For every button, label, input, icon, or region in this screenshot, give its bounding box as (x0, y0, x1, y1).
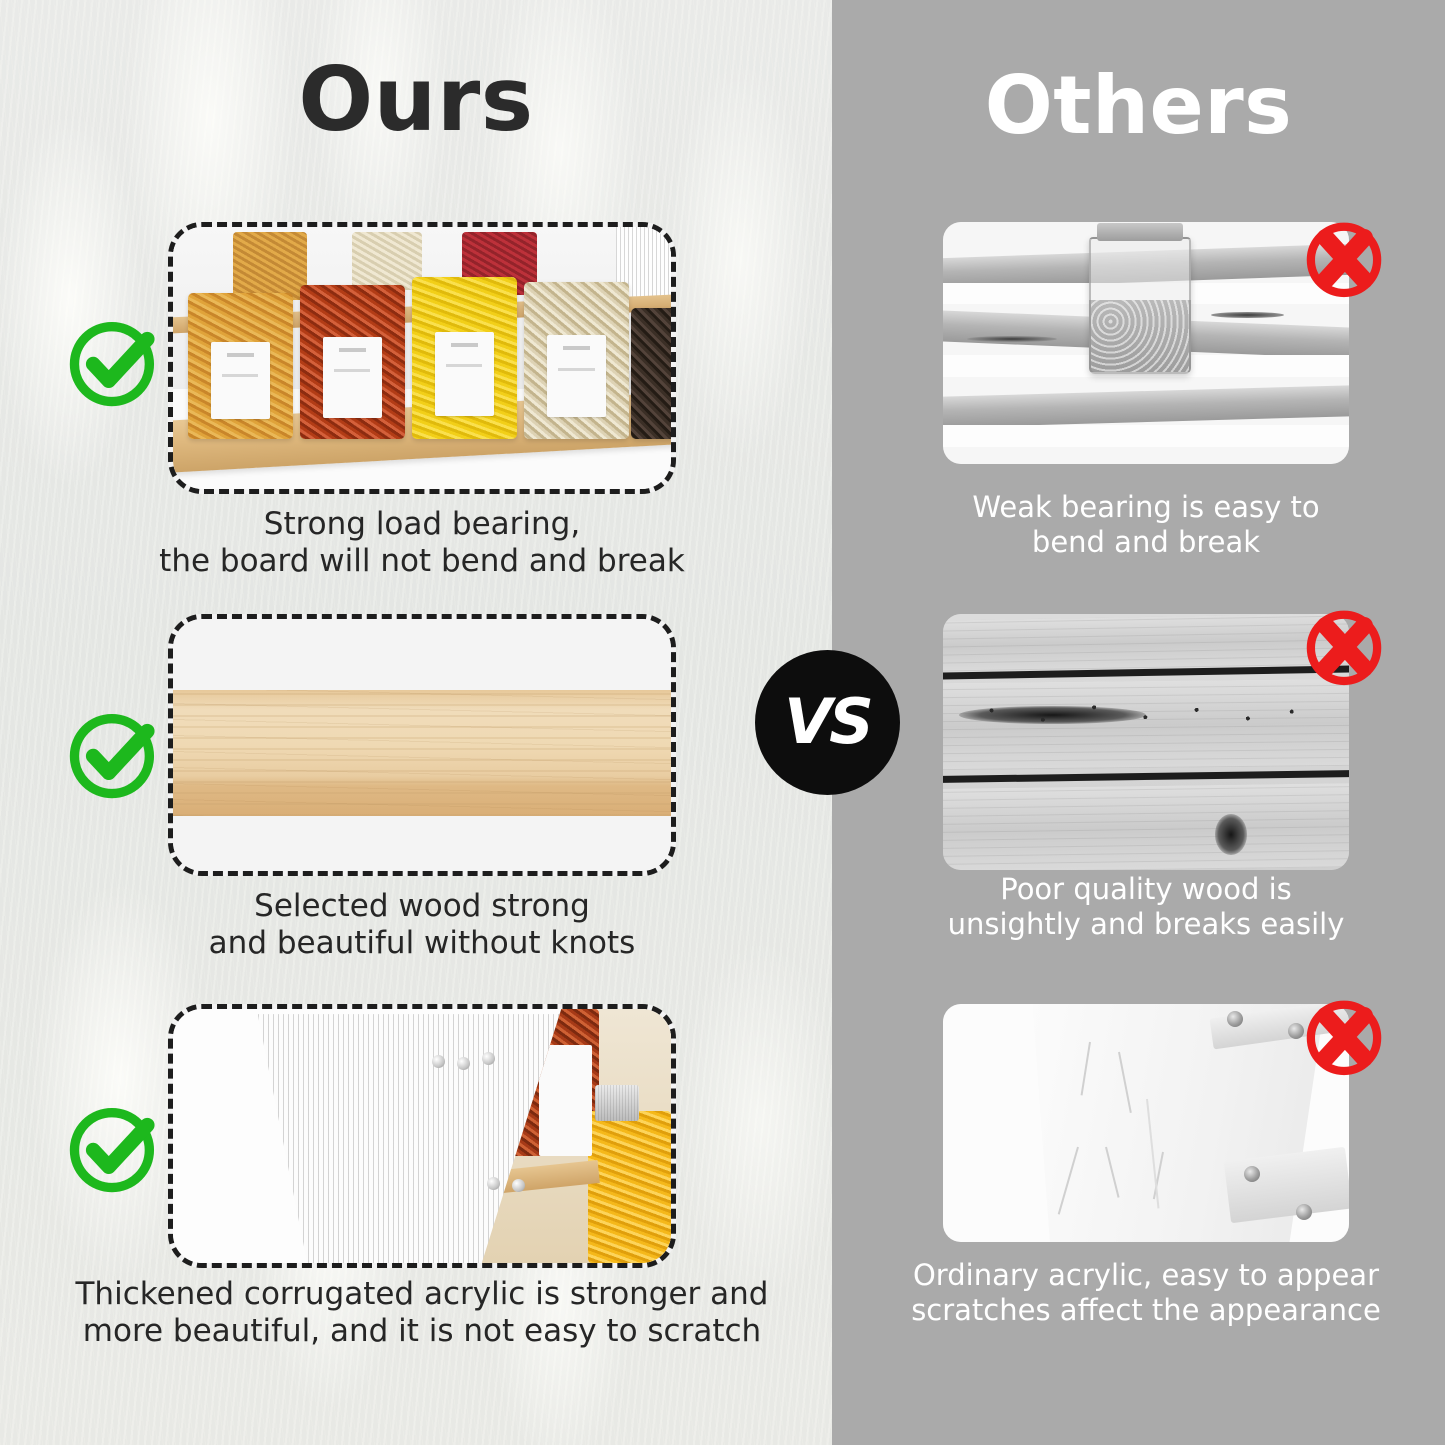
ours-caption-1-line2: the board will not bend and break (18, 543, 826, 580)
ours-row-2: Selected wood strong and beautiful witho… (168, 614, 676, 876)
ours-image-frame-2 (168, 614, 676, 876)
others-image-frame-3 (943, 1004, 1349, 1242)
red-cross-icon (1298, 212, 1390, 304)
clean-wood-plank-photo (173, 619, 671, 871)
green-check-icon (62, 702, 166, 806)
others-caption-2: Poor quality wood is unsightly and break… (883, 872, 1409, 942)
others-caption-1-line1: Weak bearing is easy to (883, 490, 1409, 525)
others-title: Others (832, 66, 1445, 146)
red-cross-icon (1298, 990, 1390, 1082)
knotty-wood-photo (943, 614, 1349, 870)
ours-caption-2-line1: Selected wood strong (18, 888, 826, 925)
ours-row-1: Strong load bearing, the board will not … (168, 222, 676, 494)
others-caption-1: Weak bearing is easy to bend and break (883, 490, 1409, 560)
ours-caption-1-line1: Strong load bearing, (18, 506, 826, 543)
spice-jars-photo (173, 227, 671, 489)
green-check-icon (62, 1096, 166, 1200)
green-check-icon (62, 310, 166, 414)
scratched-acrylic-photo (943, 1004, 1349, 1242)
others-image-frame-2 (943, 614, 1349, 870)
red-cross-icon (1298, 600, 1390, 692)
ours-caption-3: Thickened corrugated acrylic is stronger… (18, 1276, 826, 1349)
ours-caption-2: Selected wood strong and beautiful witho… (18, 888, 826, 961)
others-caption-3: Ordinary acrylic, easy to appear scratch… (883, 1258, 1409, 1328)
others-image-frame-1 (943, 222, 1349, 464)
others-row-3: Ordinary acrylic, easy to appear scratch… (943, 1004, 1349, 1242)
ours-caption-3-line2: more beautiful, and it is not easy to sc… (18, 1313, 826, 1350)
others-caption-3-line1: Ordinary acrylic, easy to appear (883, 1258, 1409, 1293)
others-caption-2-line1: Poor quality wood is (883, 872, 1409, 907)
ours-title: Ours (0, 56, 832, 144)
corrugated-acrylic-photo (173, 1009, 671, 1263)
others-row-1: Weak bearing is easy to bend and break (943, 222, 1349, 464)
ours-image-frame-3 (168, 1004, 676, 1268)
others-caption-3-line2: scratches affect the appearance (883, 1293, 1409, 1328)
others-caption-2-line2: unsightly and breaks easily (883, 907, 1409, 942)
others-row-2: Poor quality wood is unsightly and break… (943, 614, 1349, 870)
ours-caption-3-line1: Thickened corrugated acrylic is stronger… (18, 1276, 826, 1313)
ours-image-frame-1 (168, 222, 676, 494)
bending-shelf-photo (943, 222, 1349, 464)
comparison-infographic: Ours Others Strong load bearing, the boa… (0, 0, 1445, 1445)
ours-caption-2-line2: and beautiful without knots (18, 925, 826, 962)
vs-badge-label: VS (784, 691, 871, 753)
ours-row-3: Thickened corrugated acrylic is stronger… (168, 1004, 676, 1268)
ours-caption-1: Strong load bearing, the board will not … (18, 506, 826, 579)
vs-badge: VS (755, 650, 900, 795)
others-caption-1-line2: bend and break (883, 525, 1409, 560)
